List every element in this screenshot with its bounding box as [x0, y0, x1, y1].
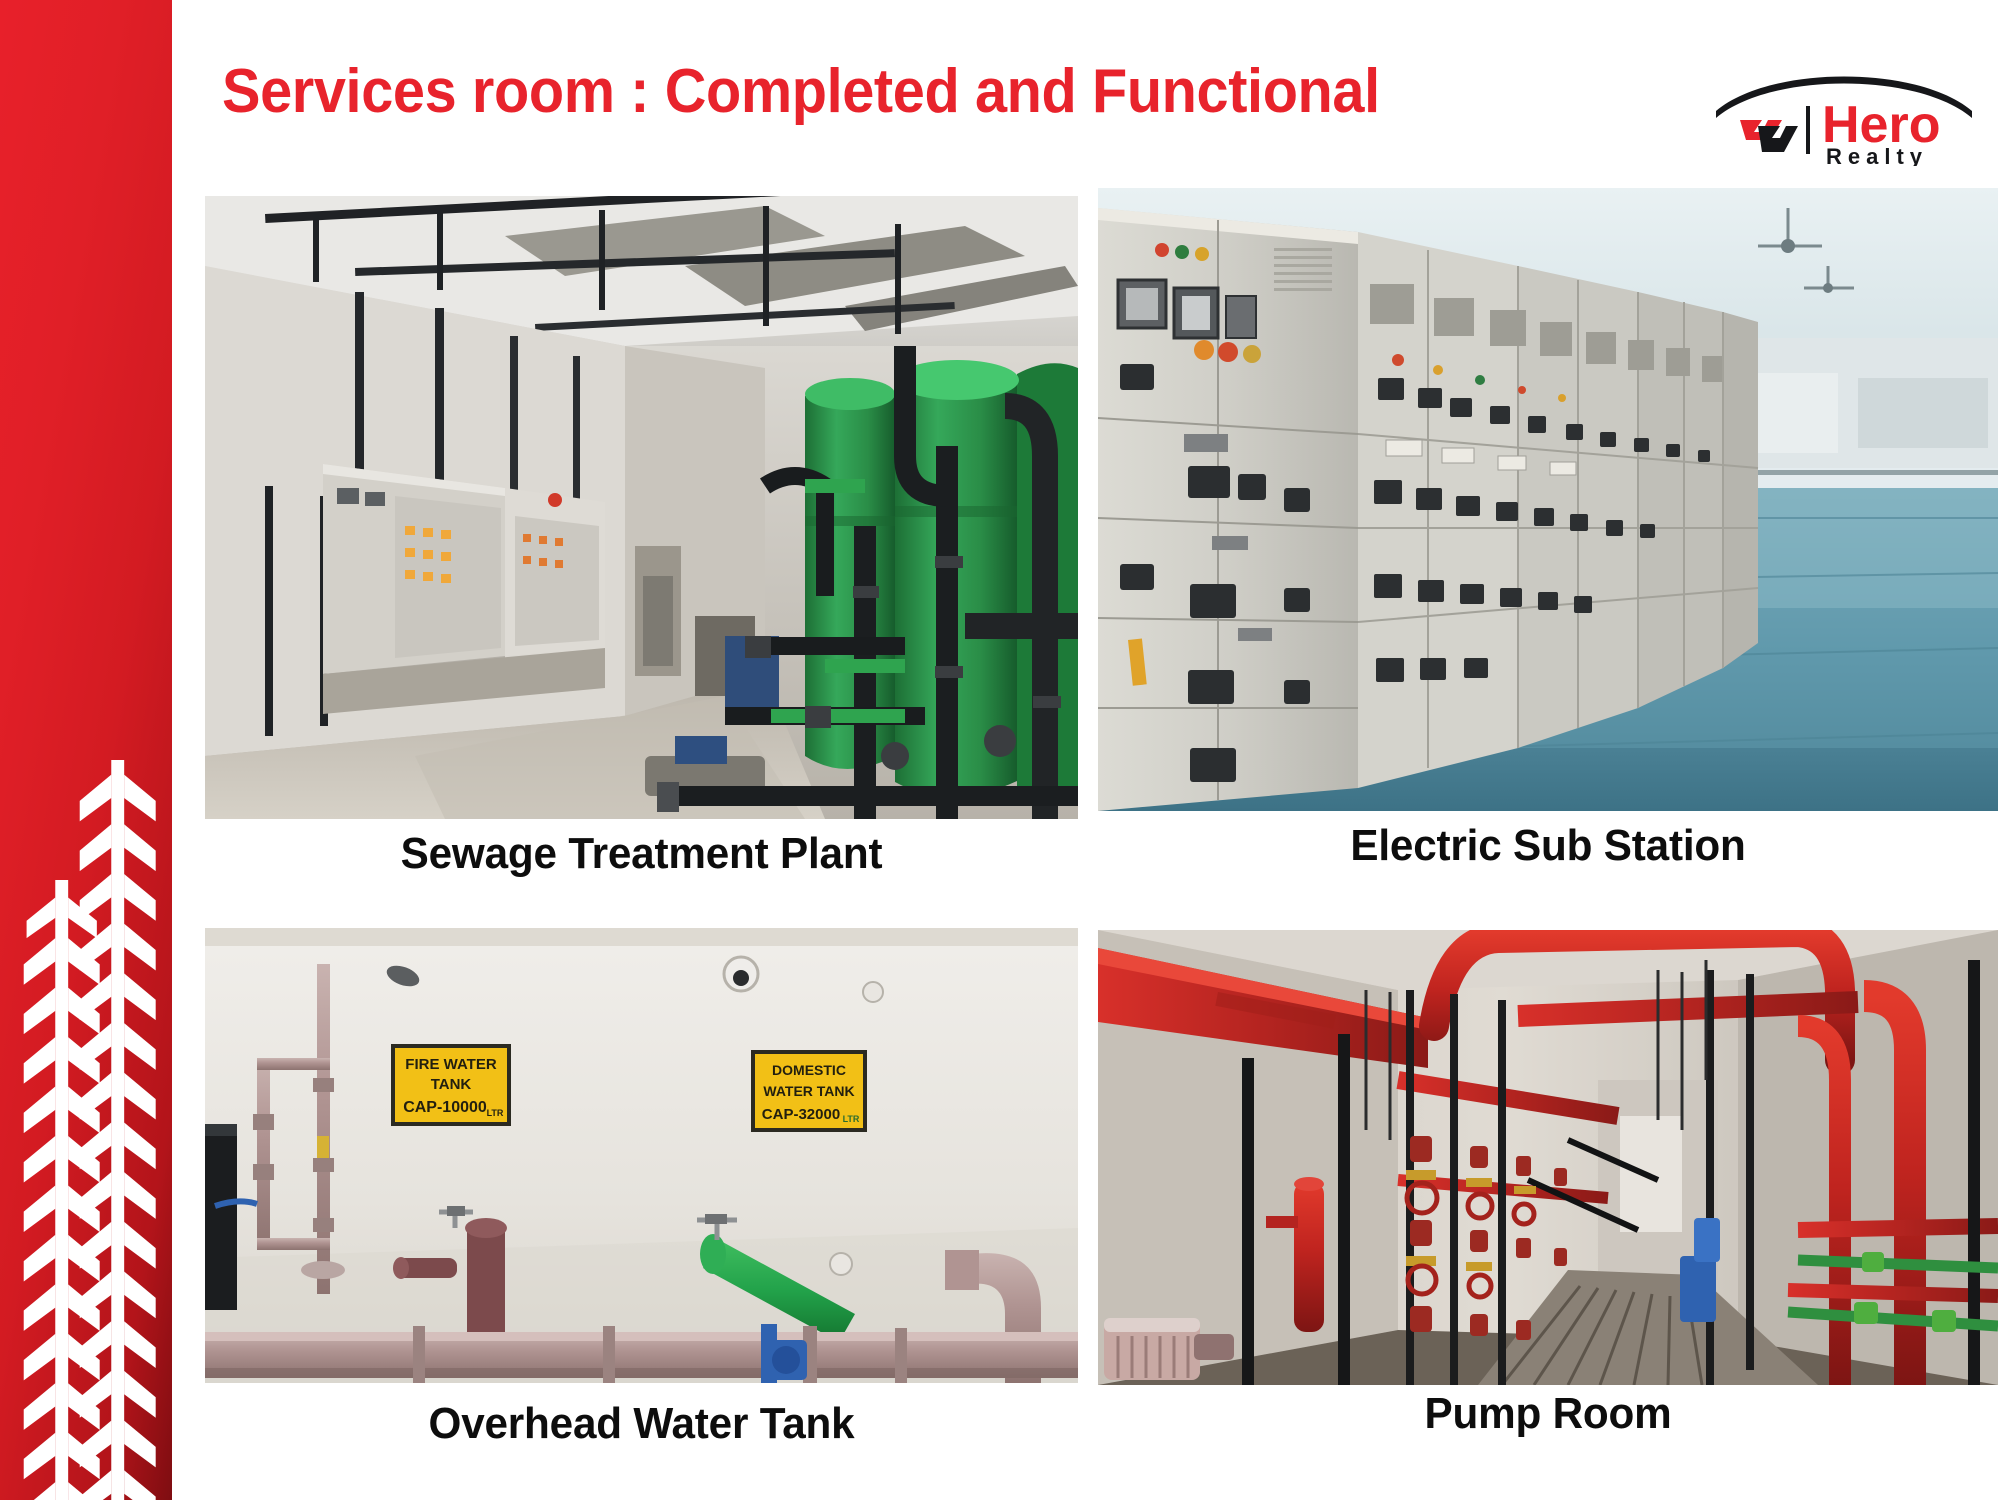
sign-domestic-water-tank: DOMESTIC WATER TANK CAP-32000 LTR: [751, 1050, 867, 1132]
photo-pump-room: [1098, 930, 1998, 1385]
svg-text:FIRE WATER: FIRE WATER: [405, 1056, 497, 1073]
tire-tread-pattern: [0, 760, 172, 1500]
svg-text:TANK: TANK: [431, 1076, 472, 1093]
svg-text:DOMESTIC: DOMESTIC: [772, 1062, 846, 1078]
photo-caption-sewage-treatment-plant: Sewage Treatment Plant: [222, 829, 1060, 879]
tread-stalk-right-icon: [74, 760, 160, 1500]
svg-text:LTR: LTR: [843, 1114, 860, 1124]
sign-fire-water-tank: FIRE WATER TANK CAP-10000 LTR: [391, 1044, 511, 1126]
page-title: Services room : Completed and Functional: [222, 56, 1380, 127]
photo-cell-overhead-water-tank: FIRE WATER TANK CAP-10000 LTR DOMESTIC W…: [205, 928, 1078, 1449]
slide-root: Services room : Completed and Functional…: [0, 0, 2000, 1500]
photo-caption-overhead-water-tank: Overhead Water Tank: [222, 1399, 1060, 1449]
photo-electric-sub-station: [1098, 188, 1998, 811]
photo-overhead-water-tank: FIRE WATER TANK CAP-10000 LTR DOMESTIC W…: [205, 928, 1078, 1383]
photo-cell-electric-sub-station: Electric Sub Station: [1098, 188, 1998, 871]
svg-text:WATER TANK: WATER TANK: [763, 1083, 854, 1099]
hero-realty-logo: Hero Realty: [1710, 62, 1978, 166]
svg-text:Realty: Realty: [1826, 144, 1928, 166]
svg-text:CAP-10000: CAP-10000: [403, 1099, 487, 1116]
photo-caption-pump-room: Pump Room: [1116, 1389, 1980, 1439]
photo-cell-pump-room: Pump Room: [1098, 930, 1998, 1439]
svg-text:LTR: LTR: [487, 1108, 504, 1118]
left-accent-sidebar: [0, 0, 172, 1500]
hero-monogram-icon: [1740, 120, 1798, 152]
photo-sewage-treatment-plant: [205, 196, 1078, 819]
photo-cell-sewage-treatment-plant: Sewage Treatment Plant: [205, 196, 1078, 879]
svg-text:CAP-32000: CAP-32000: [762, 1106, 840, 1123]
photo-caption-electric-sub-station: Electric Sub Station: [1116, 821, 1980, 871]
